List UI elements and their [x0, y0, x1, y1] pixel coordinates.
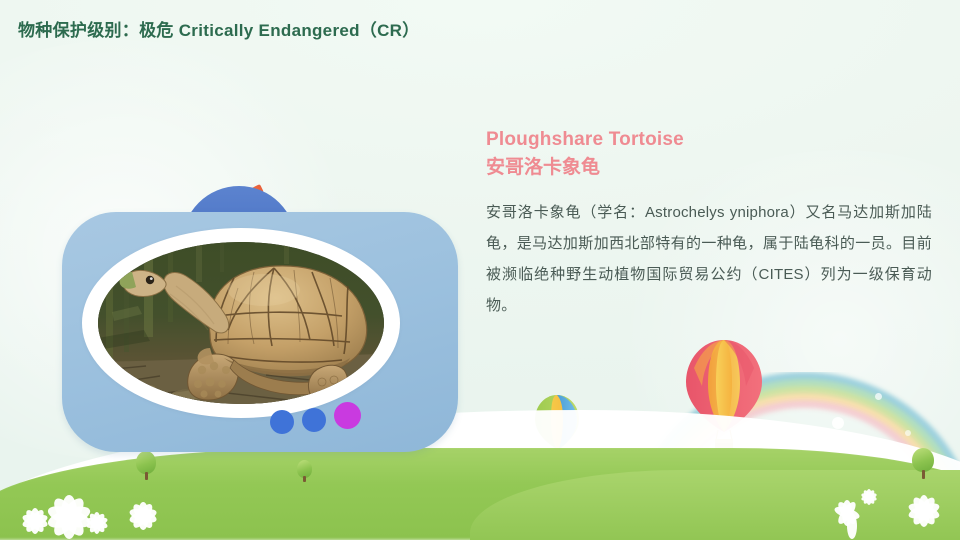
tv-screen [98, 242, 384, 404]
tv-body [62, 212, 458, 452]
page-title: 物种保护级别：极危 Critically Endangered（CR） [18, 16, 420, 41]
tv-button-3[interactable] [334, 402, 361, 429]
species-title-chinese: 安哥洛卡象龟 [486, 154, 932, 182]
species-description: 安哥洛卡象龟（学名：Astrochelys yniphora）又名马达加斯加陆龟… [486, 197, 932, 321]
tv-button-1[interactable] [270, 410, 294, 434]
ploughshare-tortoise-photo [98, 242, 384, 404]
tv-illustration [62, 168, 458, 452]
species-title-english: Ploughshare Tortoise [486, 128, 932, 153]
content-column: Ploughshare Tortoise 安哥洛卡象龟 安哥洛卡象龟（学名：As… [486, 128, 932, 321]
slide-canvas: 物种保护级别：极危 Critically Endangered（CR） [0, 0, 960, 540]
tv-button-2[interactable] [302, 408, 326, 432]
tv-bezel [82, 228, 400, 418]
